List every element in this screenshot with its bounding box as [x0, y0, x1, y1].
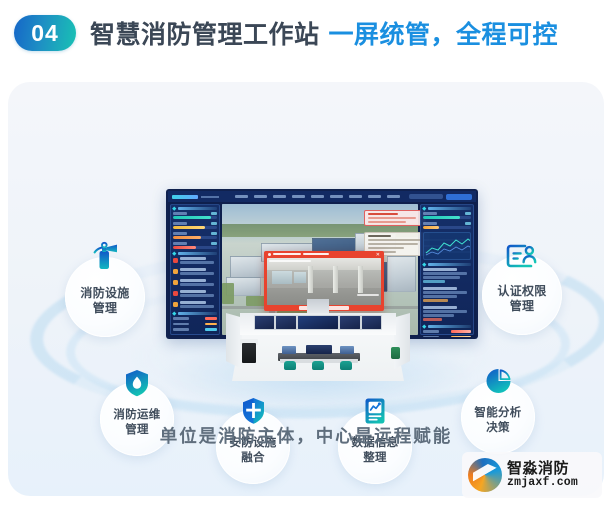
desk-monitor-center [306, 345, 332, 354]
nav-item[interactable] [254, 195, 267, 198]
nav-item[interactable] [235, 195, 248, 198]
dashboard-right-panel [420, 204, 474, 335]
desk-monitor [340, 346, 354, 354]
progress-row [173, 222, 217, 229]
alert-dot-icon [268, 253, 271, 256]
footer-tagline: 单位是消防主体，中心是远程赋能 [0, 423, 612, 448]
fire-extinguisher-icon [65, 235, 145, 273]
shield-flame-icon [100, 360, 174, 398]
dashboard-left-panel [170, 204, 220, 335]
brand-mark-icon [468, 458, 502, 492]
progress-row [423, 212, 471, 219]
alarm-level-icon [173, 291, 178, 296]
nav-item[interactable] [387, 195, 400, 198]
panel-alarm-list [173, 252, 217, 309]
panel-bullet-icon [172, 312, 176, 316]
panel-device-status [173, 207, 217, 249]
pie-chart-icon [461, 358, 535, 396]
watermark-logo: 智淼消防 zmjaxf.com [462, 452, 602, 498]
list-item[interactable] [173, 268, 217, 276]
dashboard-logo [172, 195, 198, 199]
popup-action-secondary[interactable] [327, 306, 349, 310]
dashboard-nav[interactable] [235, 195, 409, 198]
list-item[interactable] [173, 301, 217, 309]
stat-row [423, 330, 471, 333]
nav-item[interactable] [311, 195, 324, 198]
close-icon[interactable]: ✕ [376, 253, 380, 258]
progress-row [173, 232, 217, 239]
document-chart-icon [338, 388, 412, 426]
list-item[interactable] [423, 287, 471, 303]
panel-summary [423, 325, 471, 337]
alarm-level-icon [173, 302, 178, 307]
control-room-3d-illustration [218, 313, 418, 383]
list-item[interactable] [423, 306, 471, 322]
panel-bullet-icon [422, 207, 426, 211]
nav-item[interactable] [330, 195, 343, 198]
dashboard-logo-subtitle [201, 196, 219, 198]
desk-monitor [282, 346, 296, 354]
brand-name: 智淼消防 [507, 461, 578, 477]
factory-roof [387, 256, 416, 292]
nav-item[interactable] [349, 195, 362, 198]
stat-row [173, 328, 217, 331]
room-wall-right [394, 313, 410, 369]
popup-title [268, 253, 329, 256]
id-badge-person-icon [482, 233, 562, 271]
page-title: 智慧消防管理工作站 [90, 15, 320, 51]
page-subtitle: 一屏统管，全程可控 [329, 15, 559, 51]
progress-row [173, 242, 217, 249]
feature-label: 认证权限管理 [477, 284, 567, 313]
video-wall-screen [340, 316, 359, 329]
progress-row [173, 212, 217, 219]
slide-header: 04 智慧消防管理工作站 一屏统管，全程可控 [0, 0, 612, 66]
video-wall-screen [276, 316, 295, 329]
panel-bullet-icon [422, 325, 426, 329]
panel-bullet-icon [172, 252, 176, 256]
video-wall-screen [362, 316, 381, 329]
alarm-level-icon [173, 280, 178, 285]
shield-cross-icon [216, 388, 290, 426]
nav-item[interactable] [292, 195, 305, 198]
video-osd-label [357, 294, 379, 296]
garage-pillar [333, 266, 338, 292]
potted-plant [391, 347, 400, 359]
brand-domain: zmjaxf.com [507, 477, 578, 489]
panel-statistics [173, 312, 217, 331]
feature-authentication-permission-management[interactable]: 认证权限管理 [482, 245, 562, 325]
dashboard-topbar [168, 191, 476, 202]
alarm-callout[interactable] [364, 210, 426, 226]
nav-item[interactable] [273, 195, 286, 198]
stat-row [423, 336, 471, 338]
video-osd-timestamp [269, 260, 311, 262]
stat-row [173, 323, 217, 326]
stat-row [173, 317, 217, 320]
alarm-level-icon [173, 269, 178, 274]
search-input[interactable] [409, 194, 443, 199]
nav-item[interactable] [368, 195, 381, 198]
video-wall [254, 315, 382, 330]
list-item[interactable] [423, 268, 471, 284]
list-item[interactable] [173, 257, 217, 265]
list-item[interactable] [173, 279, 217, 287]
video-wall-screen [255, 316, 274, 329]
trend-line-chart [423, 232, 471, 260]
feature-fire-facility-management[interactable]: 消防设施管理 [65, 247, 145, 327]
server-rack [242, 343, 256, 363]
operator-chair [284, 361, 296, 370]
user-account-button[interactable] [446, 194, 472, 200]
alarm-level-icon [173, 258, 178, 263]
panel-bullet-icon [422, 263, 426, 267]
panel-event-log [423, 263, 471, 322]
panel-resource-usage [423, 207, 471, 260]
greenery [222, 283, 234, 304]
feature-label: 消防设施管理 [60, 286, 150, 315]
garage-pillar [358, 266, 363, 292]
garage-pillar [308, 266, 313, 292]
operator-chair [340, 361, 352, 370]
progress-row [423, 222, 471, 229]
section-number-badge: 04 [14, 15, 76, 51]
panel-bullet-icon [172, 207, 176, 211]
video-wall-screen-main [298, 316, 339, 329]
list-item[interactable] [173, 290, 217, 298]
garage-glass [272, 271, 293, 284]
operator-chair [312, 361, 324, 370]
garage-glass [294, 272, 305, 283]
camera-video-feed [267, 258, 381, 305]
slide-root: 04 智慧消防管理工作站 一屏统管，全程可控 [0, 0, 612, 513]
